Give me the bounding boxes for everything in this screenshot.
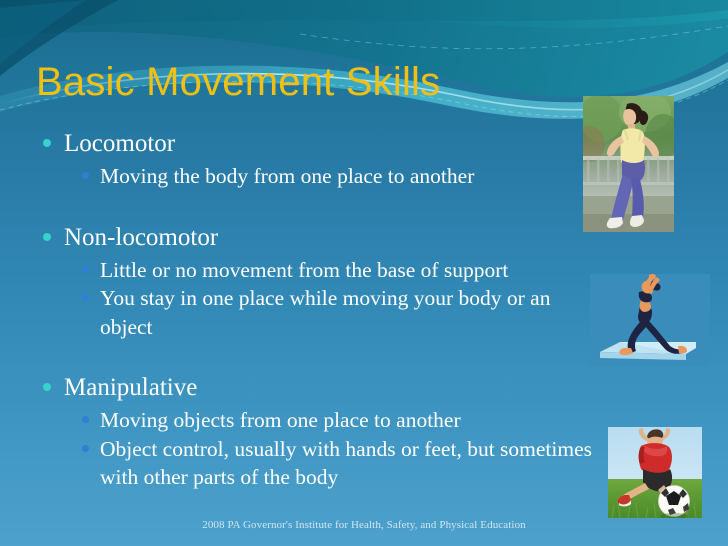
- bullet-subpoint-text: Moving the body from one place to anothe…: [100, 162, 594, 191]
- bullet-subpoint-text: You stay in one place while moving your …: [100, 284, 594, 341]
- bullet-heading-text: Non-locomotor: [64, 224, 218, 251]
- bullet-dot-level1-icon: [43, 383, 51, 391]
- bullet-dot-level2-icon: [82, 445, 89, 452]
- bullet-group-locomotor: Locomotor Moving the body from one place…: [34, 127, 594, 191]
- bullet-heading-locomotor: Locomotor: [34, 127, 594, 161]
- bullet-dot-level2-icon: [82, 416, 89, 423]
- bullet-heading-text: Manipulative: [64, 374, 197, 401]
- bullet-heading-manipulative: Manipulative: [34, 371, 594, 405]
- bullet-heading-text: Locomotor: [64, 130, 175, 157]
- bullet-subpoint-text: Moving objects from one place to another: [100, 406, 594, 435]
- group-spacer: [34, 345, 594, 371]
- bullet-group-non-locomotor: Non-locomotor Little or no movement from…: [34, 221, 594, 342]
- bullet-dot-level1-icon: [43, 139, 51, 147]
- bullet-subpoint: Object control, usually with hands or fe…: [34, 435, 594, 492]
- yoga-lunge-illustration: [590, 274, 710, 366]
- bullet-subpoint-text: Little or no movement from the base of s…: [100, 256, 594, 285]
- soccer-kick-image: [608, 427, 702, 518]
- bullet-subpoint: Moving the body from one place to anothe…: [34, 162, 594, 191]
- bullet-dot-level2-icon: [82, 294, 89, 301]
- yoga-lunge-image: [590, 274, 710, 366]
- bullet-dot-level1-icon: [43, 233, 51, 241]
- bullet-dot-level2-icon: [82, 266, 89, 273]
- bullet-subpoint-text: Object control, usually with hands or fe…: [100, 435, 594, 492]
- group-spacer: [34, 195, 594, 221]
- bullet-subpoint: Little or no movement from the base of s…: [34, 256, 594, 285]
- bullet-heading-non-locomotor: Non-locomotor: [34, 221, 594, 255]
- bullet-subpoint: You stay in one place while moving your …: [34, 284, 594, 341]
- presentation-slide: Basic Movement Skills Locomotor Moving t…: [0, 0, 728, 546]
- slide-title: Basic Movement Skills: [36, 60, 440, 105]
- bullet-dot-level2-icon: [82, 172, 89, 179]
- bullet-subpoint: Moving objects from one place to another: [34, 406, 594, 435]
- bullet-group-manipulative: Manipulative Moving objects from one pla…: [34, 371, 594, 492]
- slide-body: Locomotor Moving the body from one place…: [34, 127, 594, 496]
- child-kicking-soccer-ball-photo: [608, 427, 702, 518]
- running-woman-photo: [583, 96, 674, 232]
- slide-footer: 2008 PA Governor's Institute for Health,…: [0, 519, 728, 531]
- running-woman-image: [583, 96, 674, 232]
